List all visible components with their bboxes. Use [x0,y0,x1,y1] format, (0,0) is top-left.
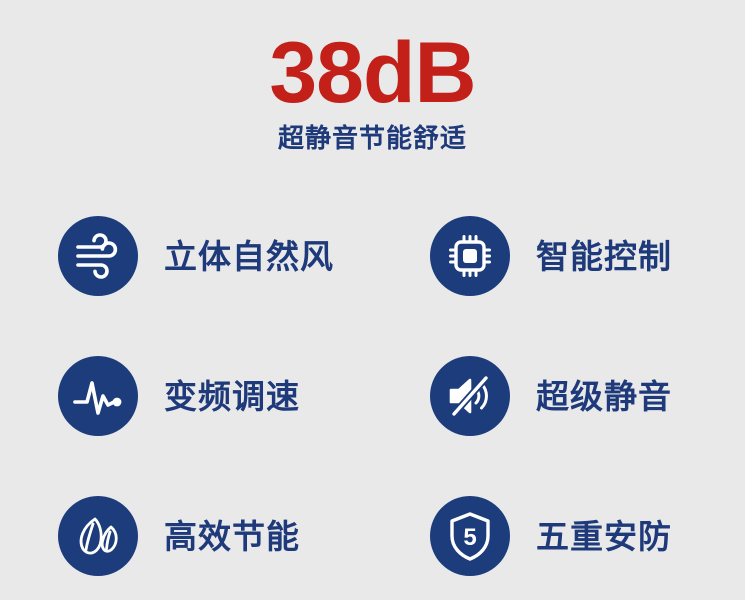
headline-block: 38dB 超静音节能舒适 [0,30,745,153]
feature-item-five-protection[interactable]: 5 五重安防 [372,486,745,586]
shield-badge-number: 5 [463,524,476,551]
leaf-icon [58,496,138,576]
feature-item-natural-wind[interactable]: 立体自然风 [0,206,372,306]
feature-item-super-quiet[interactable]: 超级静音 [372,346,745,446]
wind-icon [58,216,138,296]
headline-noise-level: 38dB [0,30,745,116]
speaker-mute-icon [430,356,510,436]
headline-subtitle: 超静音节能舒适 [0,124,745,153]
cpu-chip-icon [430,216,510,296]
feature-item-energy-saving[interactable]: 高效节能 [0,486,372,586]
feature-label-smart-control: 智能控制 [536,240,672,273]
feature-item-smart-control[interactable]: 智能控制 [372,206,745,306]
feature-label-natural-wind: 立体自然风 [164,240,334,273]
feature-label-inverter-speed: 变频调速 [164,380,300,413]
shield-five-icon: 5 [430,496,510,576]
feature-label-energy-saving: 高效节能 [164,520,300,553]
feature-label-five-protection: 五重安防 [536,520,672,553]
feature-label-super-quiet: 超级静音 [536,380,672,413]
pulse-wave-icon [58,356,138,436]
feature-panel: 38dB 超静音节能舒适 立体自然风 [0,0,745,600]
feature-item-inverter-speed[interactable]: 变频调速 [0,346,372,446]
feature-grid: 立体自然风 智能控制 [0,186,745,586]
